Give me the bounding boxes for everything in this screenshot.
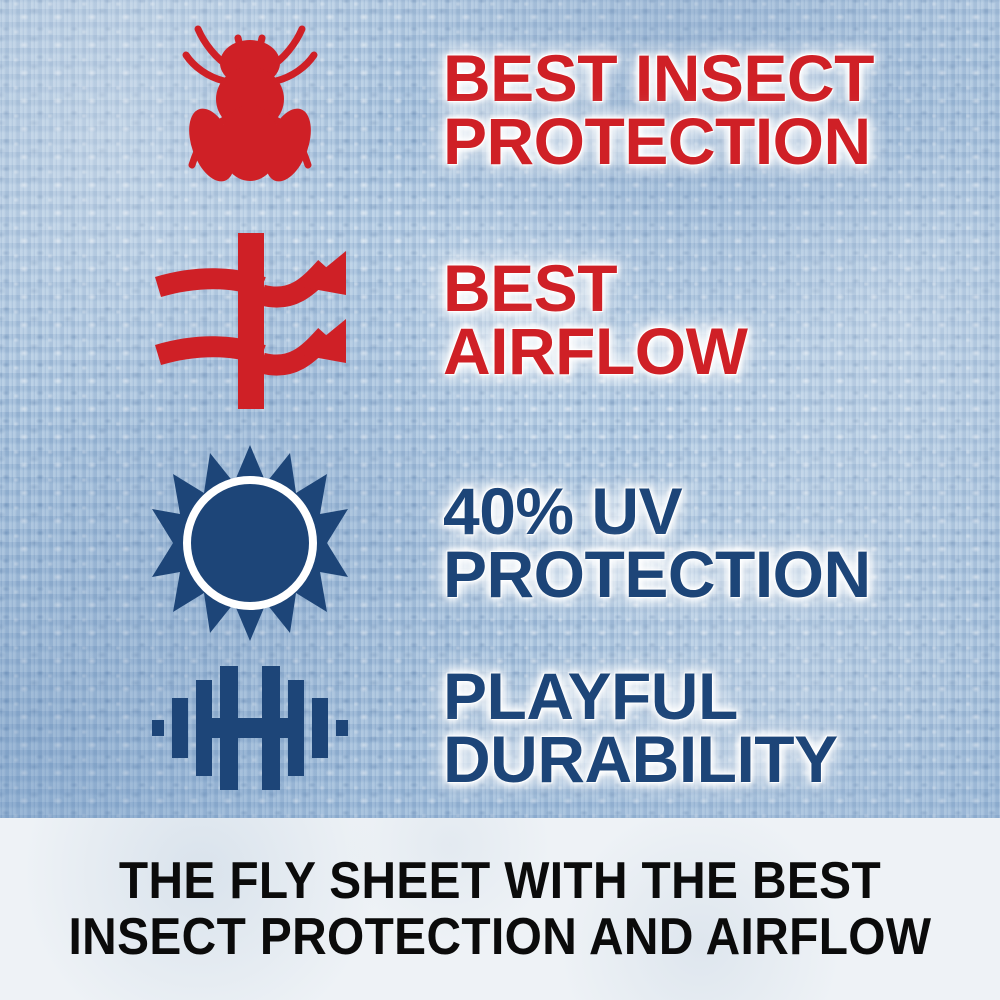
airflow-arrows-icon: [150, 225, 350, 415]
feature-label-insect-protection: BEST INSECT PROTECTION: [443, 47, 874, 174]
infographic-poster: BEST INSECT PROTECTION: [0, 0, 1000, 1000]
feature-label-airflow: BEST AIRFLOW: [443, 257, 747, 384]
sun-burst-icon: [150, 443, 350, 643]
feature-row-insect-protection: BEST INSECT PROTECTION: [150, 10, 1000, 210]
feature-label-uv-protection: 40% UV PROTECTION: [443, 480, 871, 607]
caption-text: THE FLY SHEET WITH THE BEST INSECT PROTE…: [69, 853, 932, 965]
feature-list: BEST INSECT PROTECTION: [0, 0, 1000, 818]
feature-row-airflow: BEST AIRFLOW: [150, 222, 1000, 418]
caption-bar: THE FLY SHEET WITH THE BEST INSECT PROTE…: [0, 818, 1000, 1000]
feature-row-uv-protection: 40% UV PROTECTION: [150, 440, 1000, 646]
feature-label-durability: PLAYFUL DURABILITY: [443, 665, 838, 792]
fly-icon: [150, 15, 350, 205]
feature-row-durability: PLAYFUL DURABILITY: [150, 648, 1000, 808]
dumbbell-icon: [150, 658, 350, 798]
